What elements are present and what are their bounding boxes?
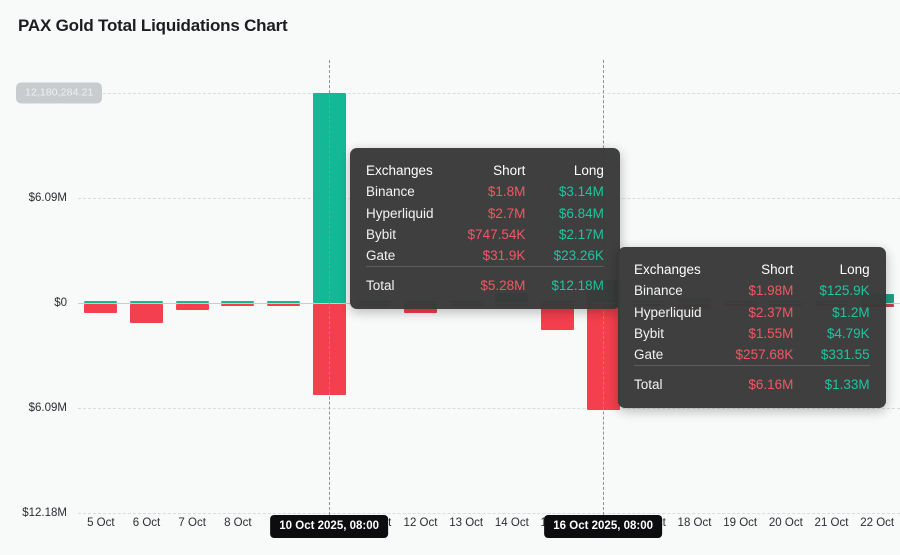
tooltip-short-value: $2.7M	[468, 203, 552, 224]
tooltip-divider	[634, 366, 870, 375]
chart-tooltip: ExchangesShortLongBinance$1.98M$125.9KHy…	[618, 247, 886, 408]
y-axis-tick-label: $6.09M	[0, 192, 67, 204]
x-axis-tick-label: 14 Oct	[495, 517, 529, 529]
tooltip-exchange-name: Total	[366, 276, 468, 296]
x-axis-tick-label: 13 Oct	[449, 517, 483, 529]
x-axis-tick-label: 6 Oct	[133, 517, 160, 529]
tooltip-short-value: $6.16M	[736, 375, 820, 395]
tooltip-long-value: $12.18M	[551, 276, 604, 296]
tooltip-exchange-name: Gate	[634, 344, 736, 366]
tooltip-divider-cell	[366, 267, 604, 276]
x-axis-tick-label: 8 Oct	[224, 517, 251, 529]
tooltip-long-value: $4.79K	[819, 323, 869, 344]
tooltip-total-row: Total$6.16M$1.33M	[634, 375, 870, 395]
gridline-horizontal	[78, 93, 900, 94]
tooltip-long-value: $6.84M	[551, 203, 604, 224]
peak-value-badge: 12,180,284.21	[16, 83, 102, 104]
tooltip-exchange-row: Hyperliquid$2.37M$1.2M	[634, 302, 870, 323]
tooltip-exchange-row: Binance$1.98M$125.9K	[634, 280, 870, 301]
bar-long[interactable]	[176, 301, 209, 303]
x-axis-tick-label: 7 Oct	[178, 517, 205, 529]
bar-short[interactable]	[84, 304, 117, 313]
page-title: PAX Gold Total Liquidations Chart	[18, 16, 287, 36]
bar-long[interactable]	[130, 301, 163, 303]
y-axis-tick-label: $0	[0, 297, 67, 309]
y-axis-tick-label: $6.09M	[0, 402, 67, 414]
tooltip-exchange-name: Exchanges	[366, 160, 468, 181]
bar-long[interactable]	[221, 301, 254, 303]
tooltip-divider	[366, 267, 604, 276]
tooltip-table: ExchangesShortLongBinance$1.98M$125.9KHy…	[634, 259, 870, 395]
tooltip-short-value: $1.98M	[736, 280, 820, 301]
tooltip-long-value: Long	[819, 259, 869, 280]
chart-tooltip: ExchangesShortLongBinance$1.8M$3.14MHype…	[350, 148, 620, 309]
bar-long[interactable]	[84, 301, 117, 303]
bar-long[interactable]	[267, 301, 300, 303]
tooltip-header-row: ExchangesShortLong	[366, 160, 604, 181]
bar-short[interactable]	[267, 304, 300, 306]
tooltip-long-value: $331.55	[819, 344, 869, 366]
tooltip-short-value: $747.54K	[468, 224, 552, 245]
tooltip-exchange-name: Total	[634, 375, 736, 395]
bar-short[interactable]	[130, 304, 163, 323]
gridline-horizontal	[78, 408, 900, 409]
tooltip-header-row: ExchangesShortLong	[634, 259, 870, 280]
bar-short[interactable]	[221, 304, 254, 306]
gridline-horizontal	[78, 513, 900, 514]
x-axis-tick-label: 18 Oct	[678, 517, 712, 529]
tooltip-short-value: $257.68K	[736, 344, 820, 366]
tooltip-exchange-row: Bybit$747.54K$2.17M	[366, 224, 604, 245]
tooltip-exchange-name: Hyperliquid	[366, 203, 468, 224]
tooltip-short-value: $5.28M	[468, 276, 552, 296]
crosshair-line	[329, 60, 330, 515]
tooltip-exchange-name: Bybit	[366, 224, 468, 245]
x-axis-tick-label: 19 Oct	[723, 517, 757, 529]
tooltip-long-value: $23.26K	[551, 245, 604, 267]
x-axis-tick-label: 22 Oct	[860, 517, 894, 529]
x-axis-tick-label: 20 Oct	[769, 517, 803, 529]
tooltip-long-value: $1.2M	[819, 302, 869, 323]
tooltip-exchange-row: Bybit$1.55M$4.79K	[634, 323, 870, 344]
tooltip-total-row: Total$5.28M$12.18M	[366, 276, 604, 296]
tooltip-long-value: $125.9K	[819, 280, 869, 301]
tooltip-table: ExchangesShortLongBinance$1.8M$3.14MHype…	[366, 160, 604, 296]
tooltip-exchange-name: Binance	[366, 181, 468, 202]
chart-page: PAX Gold Total Liquidations Chart $6.09M…	[0, 0, 900, 555]
tooltip-exchange-name: Binance	[634, 280, 736, 301]
tooltip-short-value: $1.55M	[736, 323, 820, 344]
x-axis-active-tick-label: 16 Oct 2025, 08:00	[544, 515, 662, 538]
x-axis-tick-label: 5 Oct	[87, 517, 114, 529]
x-axis-active-tick-label: 10 Oct 2025, 08:00	[270, 515, 388, 538]
x-axis-tick-label: 12 Oct	[404, 517, 438, 529]
tooltip-exchange-row: Binance$1.8M$3.14M	[366, 181, 604, 202]
tooltip-long-value: $3.14M	[551, 181, 604, 202]
tooltip-long-value: Long	[551, 160, 604, 181]
bar-short[interactable]	[176, 304, 209, 310]
tooltip-short-value: $2.37M	[736, 302, 820, 323]
tooltip-exchange-row: Hyperliquid$2.7M$6.84M	[366, 203, 604, 224]
tooltip-short-value: $1.8M	[468, 181, 552, 202]
tooltip-short-value: Short	[468, 160, 552, 181]
tooltip-exchange-name: Gate	[366, 245, 468, 267]
x-axis-tick-label: 21 Oct	[815, 517, 849, 529]
tooltip-exchange-row: Gate$31.9K$23.26K	[366, 245, 604, 267]
tooltip-divider-cell	[634, 366, 870, 375]
tooltip-short-value: $31.9K	[468, 245, 552, 267]
tooltip-exchange-name: Bybit	[634, 323, 736, 344]
tooltip-long-value: $1.33M	[819, 375, 869, 395]
tooltip-short-value: Short	[736, 259, 820, 280]
tooltip-exchange-name: Hyperliquid	[634, 302, 736, 323]
tooltip-long-value: $2.17M	[551, 224, 604, 245]
tooltip-exchange-row: Gate$257.68K$331.55	[634, 344, 870, 366]
tooltip-exchange-name: Exchanges	[634, 259, 736, 280]
x-axis: 5 Oct6 Oct7 Oct8 Oct9 Oct10 Oct11 Oct12 …	[0, 515, 900, 555]
